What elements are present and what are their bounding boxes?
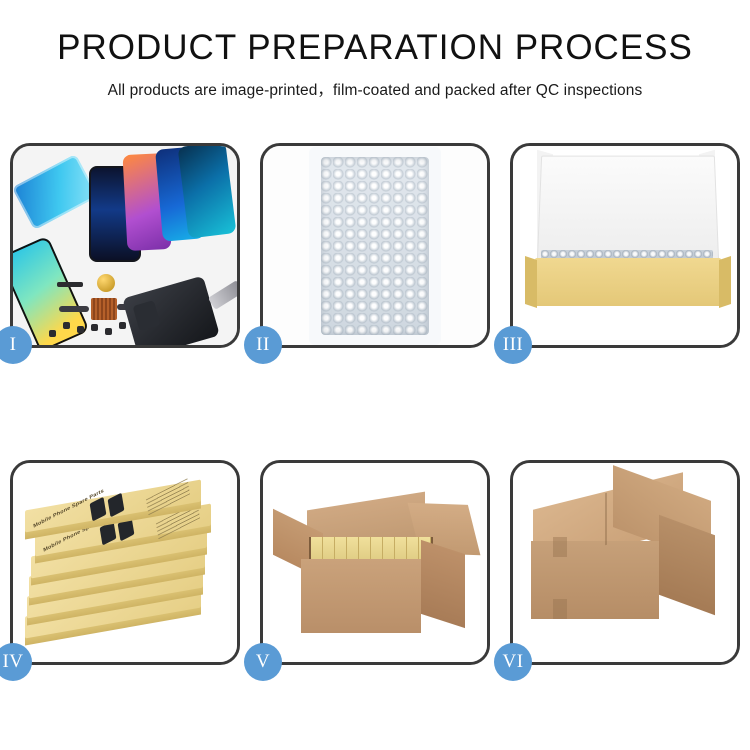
process-steps-grid: I II III [10, 143, 740, 665]
speaker-part [97, 274, 115, 292]
page-subtitle: All products are image-printed，film-coat… [0, 78, 750, 100]
small-part [77, 326, 84, 333]
step-image-carton-sealed [513, 463, 737, 662]
chip-part [91, 298, 117, 320]
step-badge-2: II [244, 326, 282, 364]
step-panel-3[interactable]: III [510, 143, 740, 348]
step-panel-5[interactable]: V [260, 460, 490, 665]
kraft-box-labelled: Mobile Phone Spare Parts [25, 495, 201, 521]
step-badge-6: VI [494, 643, 532, 681]
box-lid [537, 156, 720, 265]
step-panel-6[interactable]: VI [510, 460, 740, 665]
step-image-products [13, 146, 237, 345]
carton-front-face [531, 541, 659, 619]
step-badge-5: V [244, 643, 282, 681]
step-image-bubble-wrap [263, 146, 487, 345]
carton-tape-mark [553, 599, 567, 619]
small-part [63, 322, 70, 329]
carton-seam [605, 493, 607, 545]
phone-display-teal [178, 146, 237, 239]
small-part [105, 328, 112, 335]
step-badge-4: IV [0, 643, 32, 681]
step-panel-1[interactable]: I [10, 143, 240, 348]
box-phone-graphic [90, 497, 107, 522]
small-part [49, 330, 56, 337]
step-badge-1: I [0, 326, 32, 364]
kraft-tray [535, 258, 721, 306]
carton-side-face [421, 540, 465, 628]
carton-front-face [301, 559, 421, 633]
step-image-box-stack: Mobile Phone Spare Parts Mobile Phone Sp… [13, 463, 237, 662]
carton-tape-mark [553, 537, 567, 557]
step-image-inner-box [513, 146, 737, 345]
phone-back-housing [122, 276, 220, 345]
step-panel-4[interactable]: Mobile Phone Spare Parts Mobile Phone Sp… [10, 460, 240, 665]
phone-screen-protector [13, 154, 98, 230]
bubble-wrap-sheet [321, 157, 429, 335]
battery-part [57, 282, 83, 287]
page-header: PRODUCT PREPARATION PROCESS All products… [0, 0, 750, 100]
step-panel-2[interactable]: II [260, 143, 490, 348]
repair-tool [208, 280, 237, 310]
flex-cable-part [59, 306, 89, 312]
box-stack: Mobile Phone Spare Parts Mobile Phone Sp… [21, 485, 233, 655]
small-part [91, 324, 98, 331]
box-phone-graphic [108, 493, 125, 518]
page-title: PRODUCT PREPARATION PROCESS [0, 30, 750, 67]
step-image-carton-loading [263, 463, 487, 662]
step-badge-3: III [494, 326, 532, 364]
small-part [119, 322, 126, 329]
